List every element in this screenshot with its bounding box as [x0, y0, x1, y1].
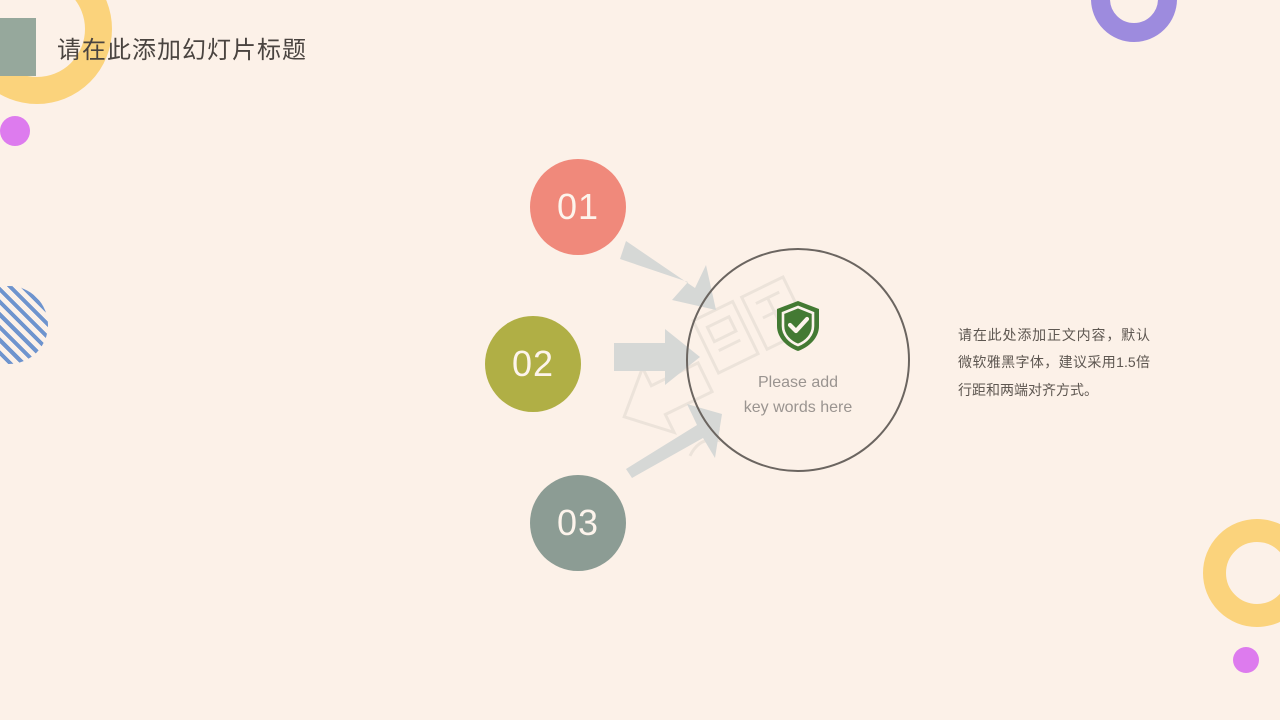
center-keyword-circle[interactable]: Please add key words here: [686, 248, 910, 472]
right-paragraph[interactable]: 请在此处添加正文内容，默认微软雅黑字体，建议采用1.5倍行距和两端对齐方式。: [958, 322, 1150, 404]
center-keyword-line2: key words here: [744, 396, 853, 421]
number-circle-02[interactable]: 02: [485, 316, 581, 412]
shield-check-icon: [775, 300, 821, 357]
slide-canvas: 请在此添加幻灯片标题 请添加正文小标题 请在此处添加正文内容，默认微软雅黑字体，: [0, 0, 1280, 720]
arrow-one-to-center: [620, 241, 716, 310]
center-keyword-text[interactable]: Please add key words here: [744, 371, 853, 421]
number-circle-03[interactable]: 03: [530, 475, 626, 571]
center-keyword-line1: Please add: [744, 371, 853, 396]
number-circle-01[interactable]: 01: [530, 159, 626, 255]
